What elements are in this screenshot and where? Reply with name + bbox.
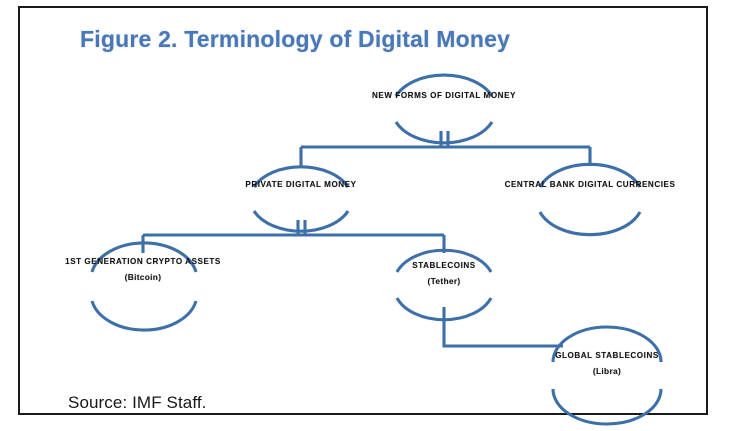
node-arc-top-cbdc — [540, 164, 640, 187]
node-arc-top-stablecoins — [397, 250, 491, 272]
node-arc-bottom-private — [254, 211, 348, 231]
node-arc-bottom-global-stablecoins — [553, 389, 661, 424]
digital-money-hierarchy-diagram — [0, 0, 729, 431]
node-arc-top-global-stablecoins — [553, 327, 661, 362]
node-arc-bottom-crypto — [92, 301, 196, 330]
node-arc-top-private — [254, 167, 348, 187]
connector-elbow-global-stablecoins — [444, 307, 563, 346]
node-arc-top-new-forms — [396, 75, 492, 96]
figure-screenshot: Figure 2. Terminology of Digital Money S… — [0, 0, 729, 431]
node-arc-bottom-new-forms — [396, 122, 492, 143]
node-arc-bottom-cbdc — [540, 212, 640, 235]
